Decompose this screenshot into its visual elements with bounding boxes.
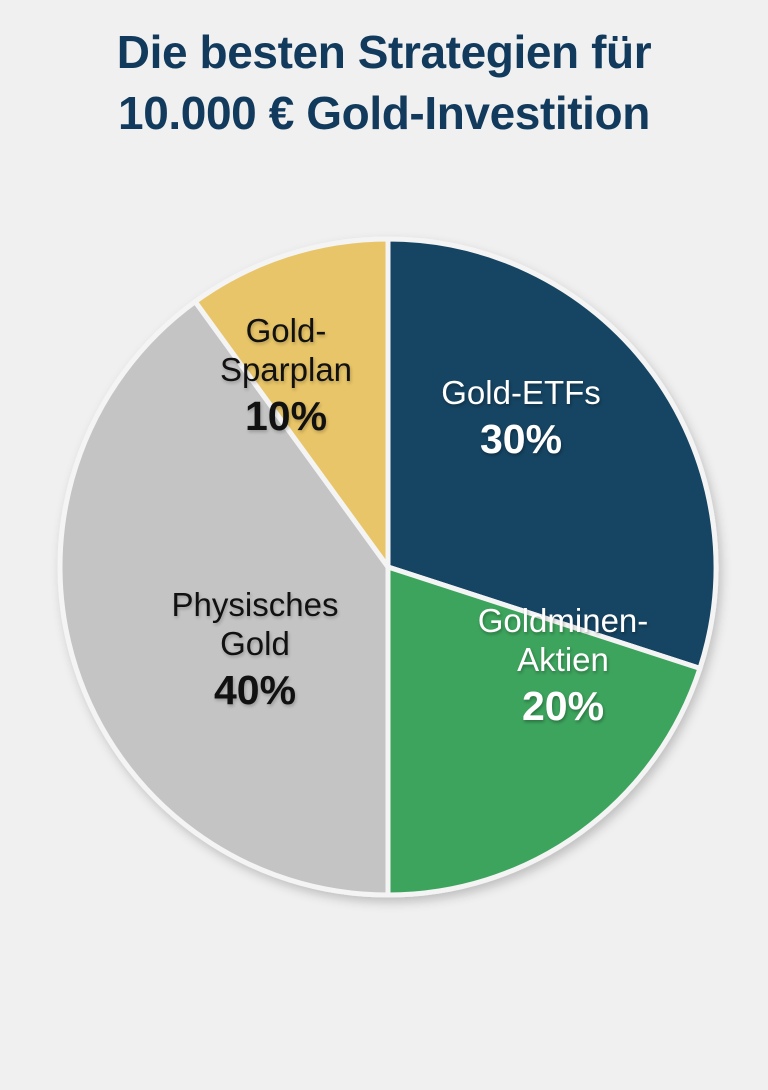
pie-chart-svg xyxy=(0,0,768,1090)
pie-chart: Gold-ETFs 30% Goldminen- Aktien 20% Phys… xyxy=(0,0,768,1090)
gold-investment-infographic: Die besten Strategien für 10.000 € Gold-… xyxy=(0,0,768,1090)
pie-slices-group xyxy=(60,239,716,895)
